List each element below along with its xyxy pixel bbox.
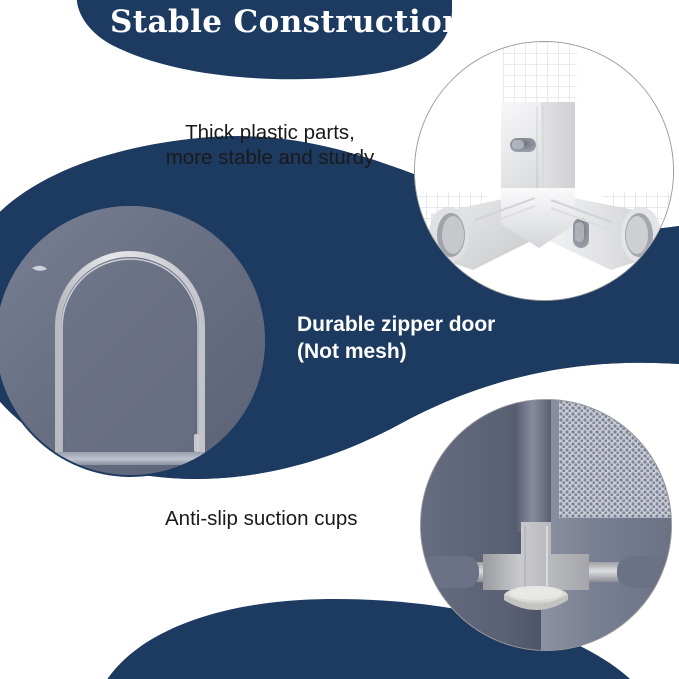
photo-zipper-door — [0, 204, 267, 477]
infographic-canvas: Stable Construction Thick plastic parts,… — [0, 0, 679, 679]
photo-corner-connector — [414, 41, 674, 301]
suction-cup-illustration — [421, 400, 671, 650]
corner-connector-illustration — [415, 42, 673, 300]
photo-suction-cup — [420, 399, 672, 651]
page-title: Stable Construction — [110, 1, 440, 43]
feature-caption-zipper-door: Durable zipper door (Not mesh) — [297, 311, 547, 365]
zipper-door-illustration — [0, 206, 265, 475]
feature-caption-thick-plastic: Thick plastic parts, more stable and stu… — [130, 120, 410, 170]
feature-caption-suction-cups: Anti-slip suction cups — [165, 506, 425, 531]
